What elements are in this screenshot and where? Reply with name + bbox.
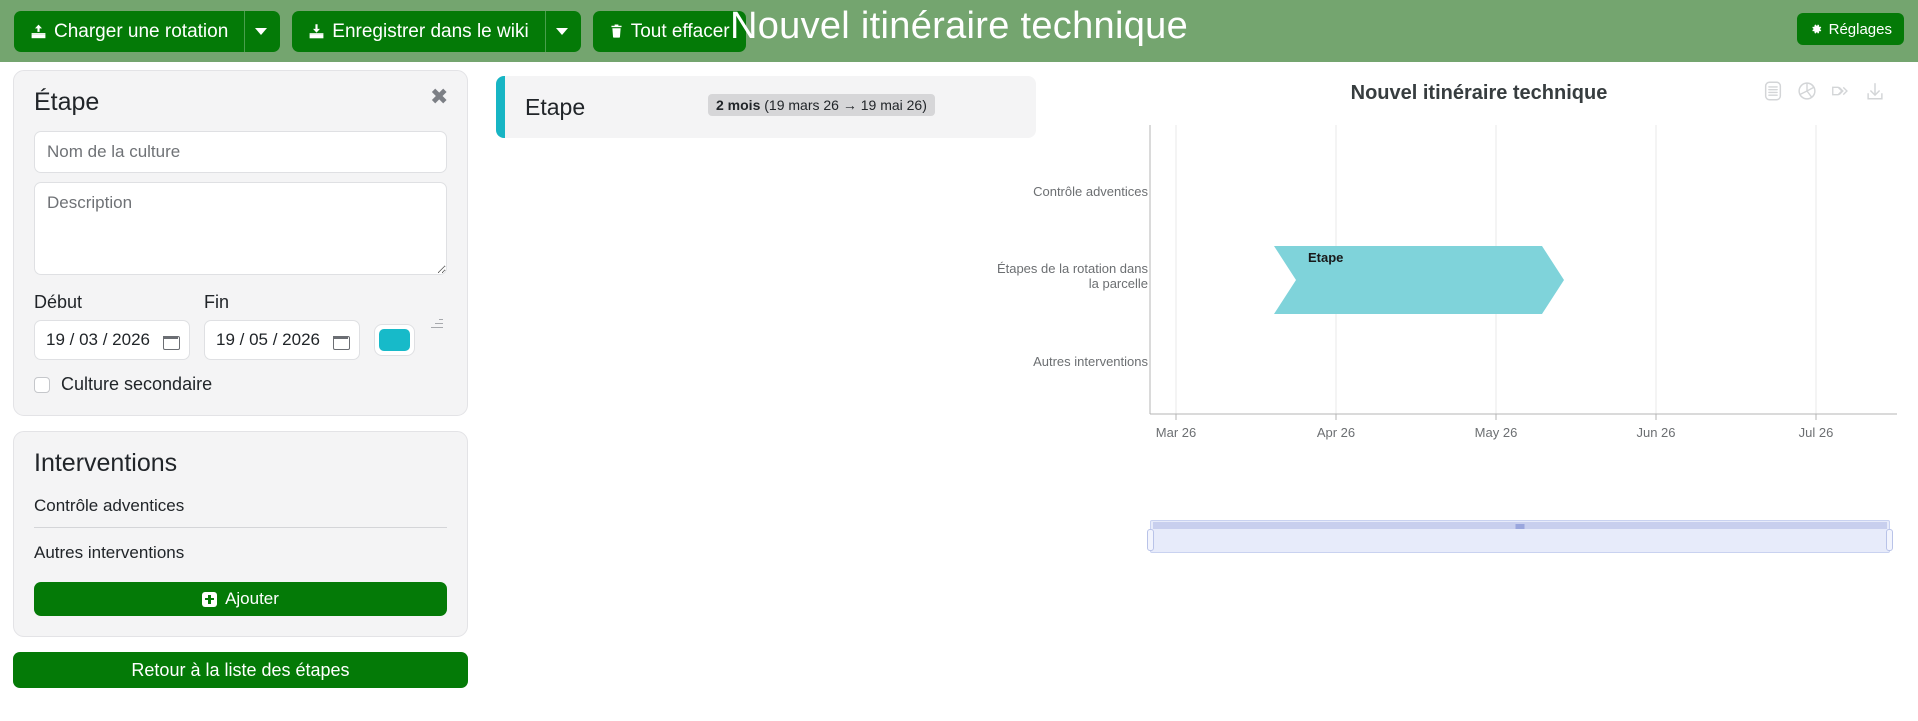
range-selector-grip-icon[interactable] bbox=[1516, 524, 1525, 529]
end-date-label: Fin bbox=[204, 292, 229, 313]
chevron-down-icon bbox=[556, 28, 568, 35]
y-axis-label-0: Contrôle adventices bbox=[988, 185, 1148, 200]
download-icon[interactable] bbox=[1864, 80, 1886, 102]
step-duration-value: 2 mois bbox=[716, 97, 760, 113]
upload-icon bbox=[30, 23, 47, 40]
date-inputs-row: 19 / 03 / 2026 19 / 05 / 2026 bbox=[34, 320, 447, 360]
save-wiki-split-button: Enregistrer dans le wiki bbox=[292, 11, 580, 52]
range-selector-bar[interactable] bbox=[1153, 522, 1887, 529]
clear-all-label: Tout effacer bbox=[631, 22, 730, 41]
save-to-wiki-button[interactable]: Enregistrer dans le wiki bbox=[292, 11, 544, 52]
step-name: Etape bbox=[525, 94, 585, 121]
description-input[interactable] bbox=[34, 182, 447, 275]
save-to-wiki-label: Enregistrer dans le wiki bbox=[332, 22, 528, 41]
chart-svg bbox=[1040, 107, 1918, 467]
chart-plot-area: Contrôle adventices Étapes de la rotatio… bbox=[1040, 107, 1918, 467]
left-panel: Étape ✖ Début Fin 19 / 03 / 2026 19 / 05… bbox=[13, 70, 468, 688]
back-to-steps-button[interactable]: Retour à la liste des étapes bbox=[13, 652, 468, 688]
secondary-crop-label: Culture secondaire bbox=[61, 374, 212, 395]
step-editor-heading: Étape bbox=[34, 88, 447, 117]
date-labels-row: Début Fin bbox=[34, 292, 447, 313]
color-swatch bbox=[379, 329, 410, 351]
divider bbox=[34, 527, 447, 528]
end-date-value: 19 / 05 / 2026 bbox=[216, 330, 320, 350]
gantt-chart-panel: Nouvel itinéraire technique bbox=[1040, 62, 1918, 542]
y-axis-label-1: Étapes de la rotation dans la parcelle bbox=[988, 262, 1148, 292]
start-date-label: Début bbox=[34, 292, 204, 313]
x-tick-3: Jun 26 bbox=[1636, 425, 1675, 440]
add-intervention-button[interactable]: Ajouter bbox=[34, 582, 447, 616]
download-save-icon bbox=[308, 23, 325, 40]
secondary-crop-checkbox[interactable] bbox=[34, 377, 50, 393]
y-axis-label-2: Autres interventions bbox=[988, 355, 1148, 370]
y-label-text: Étapes de la rotation dans la parcelle bbox=[997, 261, 1148, 291]
x-tick-1: Apr 26 bbox=[1317, 425, 1355, 440]
chevron-down-icon bbox=[255, 28, 267, 35]
calendar-icon[interactable] bbox=[163, 333, 178, 348]
chart-range-selector[interactable] bbox=[1150, 520, 1890, 553]
range-handle-right[interactable] bbox=[1886, 529, 1893, 551]
toolbar-buttons: Charger une rotation Enregistrer dans le… bbox=[14, 11, 746, 52]
load-rotation-label: Charger une rotation bbox=[54, 22, 228, 41]
range-handle-left[interactable] bbox=[1147, 529, 1154, 551]
x-tick-2: May 26 bbox=[1475, 425, 1518, 440]
add-intervention-label: Ajouter bbox=[225, 589, 279, 609]
color-picker-button[interactable] bbox=[374, 324, 415, 356]
secondary-crop-row: Culture secondaire bbox=[34, 374, 447, 395]
interventions-heading: Interventions bbox=[34, 449, 447, 478]
start-date-value: 19 / 03 / 2026 bbox=[46, 330, 150, 350]
plus-icon bbox=[202, 592, 217, 607]
gear-icon bbox=[1809, 22, 1823, 36]
x-tick-4: Jul 26 bbox=[1799, 425, 1834, 440]
crop-name-input[interactable] bbox=[34, 131, 447, 173]
settings-label: Réglages bbox=[1829, 21, 1892, 38]
y-label-text: Contrôle adventices bbox=[1033, 184, 1148, 199]
menu-icon[interactable] bbox=[1762, 80, 1784, 102]
close-icon[interactable]: ✖ bbox=[430, 90, 448, 108]
calendar-icon[interactable] bbox=[333, 333, 348, 348]
top-toolbar: Charger une rotation Enregistrer dans le… bbox=[0, 0, 1918, 62]
step-editor-card: Étape ✖ Début Fin 19 / 03 / 2026 19 / 05… bbox=[13, 70, 468, 416]
save-wiki-dropdown-toggle[interactable] bbox=[545, 11, 581, 52]
pie-chart-icon[interactable] bbox=[1796, 80, 1818, 102]
chart-toolbar bbox=[1762, 80, 1886, 102]
load-rotation-split-button: Charger une rotation bbox=[14, 11, 280, 52]
step-accent-bar bbox=[496, 76, 505, 138]
step-duration-badge: 2 mois (19 mars 26 → 19 mai 26) bbox=[708, 94, 935, 116]
y-label-text: Autres interventions bbox=[1033, 354, 1148, 369]
start-date-input[interactable]: 19 / 03 / 2026 bbox=[34, 320, 190, 360]
gantt-bar-label: Etape bbox=[1308, 250, 1343, 265]
step-date-range: (19 mars 26 → 19 mai 26) bbox=[764, 97, 927, 113]
load-rotation-dropdown-toggle[interactable] bbox=[244, 11, 280, 52]
settings-button[interactable]: Réglages bbox=[1797, 13, 1904, 45]
list-item[interactable]: Etape 2 mois (19 mars 26 → 19 mai 26) bbox=[496, 76, 1036, 138]
load-rotation-button[interactable]: Charger une rotation bbox=[14, 11, 244, 52]
x-tick-0: Mar 26 bbox=[1156, 425, 1196, 440]
interventions-card: Interventions Contrôle adventices Autres… bbox=[13, 431, 468, 637]
trash-icon bbox=[609, 23, 624, 39]
end-date-input[interactable]: 19 / 05 / 2026 bbox=[204, 320, 360, 360]
intervention-item-weed-control[interactable]: Contrôle adventices bbox=[34, 492, 447, 527]
steps-list: Etape 2 mois (19 mars 26 → 19 mai 26) bbox=[496, 76, 1036, 138]
stacked-arrows-icon[interactable] bbox=[1830, 80, 1852, 102]
intervention-item-other[interactable]: Autres interventions bbox=[34, 539, 447, 574]
clear-all-button[interactable]: Tout effacer bbox=[593, 11, 746, 52]
